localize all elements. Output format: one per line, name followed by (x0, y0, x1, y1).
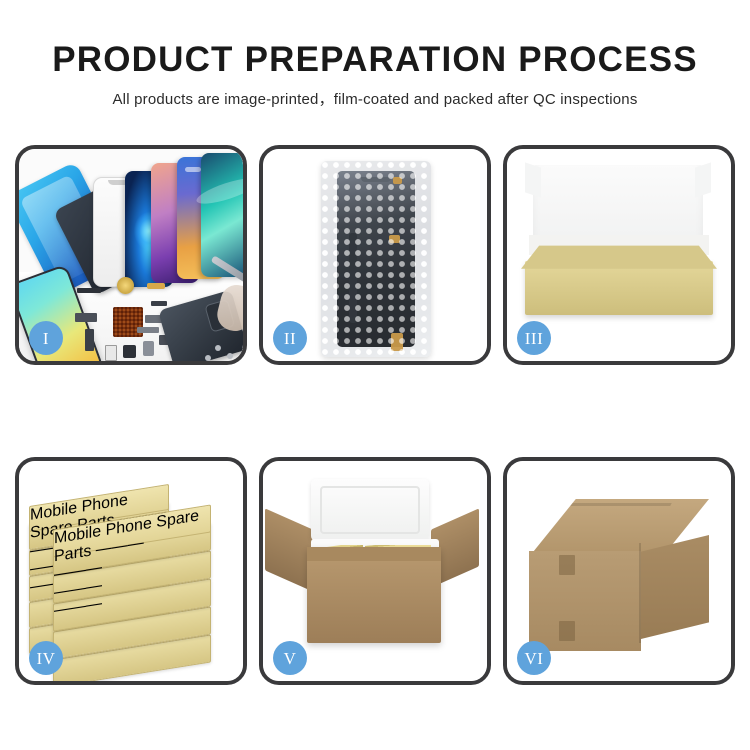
kraft-box-base (525, 261, 713, 315)
small-part (105, 345, 117, 361)
screw (215, 345, 221, 351)
sealed-shipping-carton (529, 499, 709, 651)
screw (205, 355, 211, 361)
step-badge-4: IV (29, 641, 63, 675)
product-preparation-infographic: PRODUCT PREPARATION PROCESS All products… (0, 0, 750, 750)
cardboard-carton (307, 547, 441, 643)
step-badge-5: V (273, 641, 307, 675)
process-step-panel-5: V (259, 457, 491, 685)
carton-seam (570, 503, 671, 506)
process-step-grid: I II (15, 145, 735, 690)
process-step-panel-1: I (15, 145, 247, 365)
bubble-texture-overlay (321, 161, 431, 357)
process-step-panel-3: III (503, 145, 735, 365)
small-part (75, 313, 97, 322)
step-badge-3: III (517, 321, 551, 355)
bubble-wrap-bag (321, 161, 431, 357)
page-title: PRODUCT PREPARATION PROCESS (0, 42, 750, 77)
small-part (143, 341, 154, 356)
header: PRODUCT PREPARATION PROCESS All products… (0, 0, 750, 109)
gold-flex-connector (147, 283, 165, 289)
page-subtitle: All products are image-printed，film-coat… (0, 88, 750, 109)
carton-flap-left (265, 508, 313, 591)
step-badge-2: II (273, 321, 307, 355)
gold-coil-part (117, 277, 134, 294)
process-step-panel-4: Mobile Phone Spare Parts ———————————— Mo… (15, 457, 247, 685)
flex-cable (85, 329, 94, 351)
tape-strip (559, 621, 575, 641)
process-step-panel-6: VI (503, 457, 735, 685)
carton-side-face (641, 535, 709, 639)
small-part (77, 288, 101, 293)
styrofoam-lid (311, 479, 429, 541)
tape-strip (559, 555, 575, 575)
small-part (137, 327, 159, 333)
small-part (151, 301, 167, 306)
carton-front-face (529, 551, 641, 651)
carton-edge (639, 543, 641, 643)
screw (227, 353, 233, 359)
step-badge-6: VI (517, 641, 551, 675)
phone-teal-wave (201, 153, 243, 277)
small-part (123, 345, 136, 358)
process-step-panel-2: II (259, 145, 491, 365)
step-badge-1: I (29, 321, 63, 355)
